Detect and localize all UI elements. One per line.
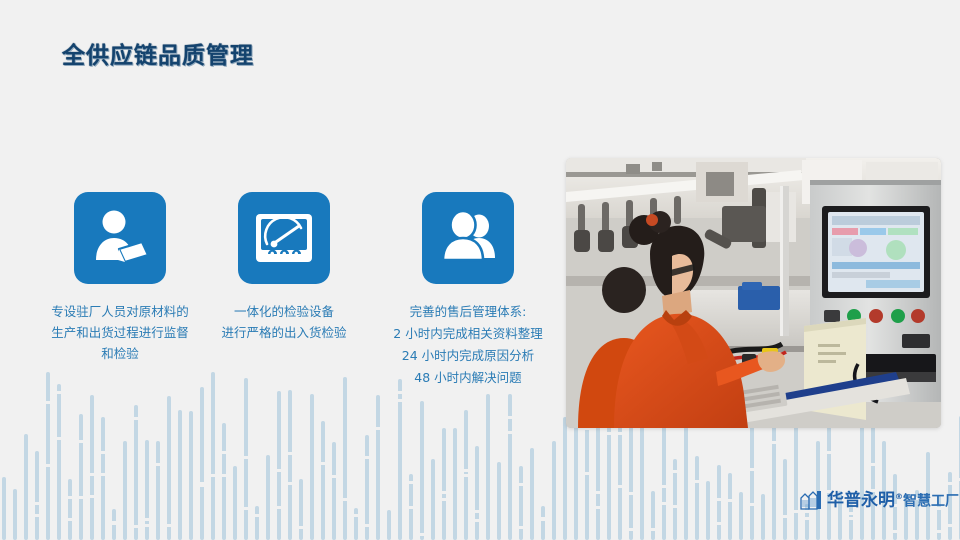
factory-photo-image xyxy=(566,158,941,428)
feature-column-after-sales: 完善的售后管理体系: 2 小时内完成相关资料整理 24 小时内完成原因分析 48… xyxy=(378,192,558,389)
two-users-icon xyxy=(422,192,514,284)
registered-mark: ® xyxy=(895,492,903,501)
factory-building-mark-icon xyxy=(800,489,822,510)
feature-column-inspection-staff: 专设驻厂人员对原材料的 生产和出货过程进行监督 和检验 xyxy=(30,192,210,364)
factory-photo xyxy=(566,158,941,428)
feature-text: 一体化的检验设备 进行严格的出入货检验 xyxy=(194,301,374,343)
brand-logo: 华普永明®智慧工厂 xyxy=(800,487,959,511)
brand-name: 华普永明 xyxy=(827,490,895,510)
person-reading-document-icon xyxy=(74,192,166,284)
brand-wordmark: 华普永明®智慧工厂 xyxy=(827,486,959,513)
gauge-meter-icon xyxy=(238,192,330,284)
feature-column-testing-equipment: 一体化的检验设备 进行严格的出入货检验 xyxy=(194,192,374,343)
slide-canvas: 全供应链品质管理 专设驻厂人员对原材料的 生产和出货过程进行监督 和检验 xyxy=(0,0,960,540)
feature-text: 完善的售后管理体系: 2 小时内完成相关资料整理 24 小时内完成原因分析 48… xyxy=(378,301,558,389)
feature-text: 专设驻厂人员对原材料的 生产和出货过程进行监督 和检验 xyxy=(30,301,210,364)
page-title: 全供应链品质管理 xyxy=(62,36,254,70)
product-name: 智慧工厂 xyxy=(903,493,959,509)
